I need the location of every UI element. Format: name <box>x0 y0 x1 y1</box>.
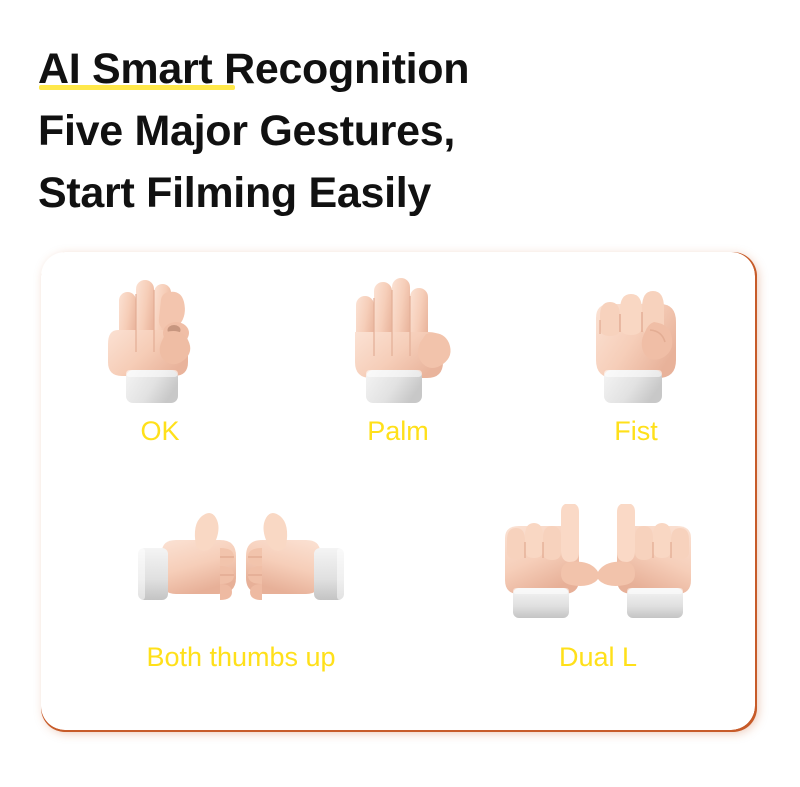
gesture-item-both-thumbs-up[interactable]: Both thumbs up Switch portrait / landsca… <box>41 504 441 703</box>
l-hand-right <box>597 504 691 618</box>
both-thumbs-up-art <box>41 504 441 628</box>
gesture-desc: Switch photo/video <box>552 453 720 477</box>
page-title: AI Smart Recognition Five Major Gestures… <box>38 38 738 224</box>
heading-highlight-underline <box>39 85 235 90</box>
both-thumbs-up-icon <box>116 504 366 628</box>
gesture-title: Fist <box>614 416 658 446</box>
gesture-title: Both thumbs up <box>146 642 335 672</box>
gesture-desc: Pause gesture control <box>501 679 696 703</box>
gesture-title: Dual L <box>559 642 637 672</box>
gesture-item-dual-l[interactable]: Dual L Pause gesture control <box>441 504 755 703</box>
thumbs-up-right <box>246 513 344 600</box>
gesture-row-top: OK Start active track <box>41 270 755 477</box>
gesture-item-ok[interactable]: OK Start active track <box>41 270 279 477</box>
gesture-desc: Start active track <box>86 453 235 477</box>
heading-line-1-wrap: AI Smart Recognition <box>38 38 738 100</box>
page-root: AI Smart Recognition Five Major Gestures… <box>0 0 800 787</box>
gesture-card: OK Start active track <box>41 252 755 730</box>
ok-hand-icon <box>106 270 214 406</box>
fist-art <box>517 270 755 406</box>
fist-icon <box>584 270 688 406</box>
heading-line-1: AI Smart Recognition <box>38 38 469 100</box>
gesture-title: OK <box>140 416 179 446</box>
l-hand-left <box>505 504 599 618</box>
ok-hand-art <box>41 270 279 406</box>
gesture-item-fist[interactable]: Fist Switch photo/video <box>517 270 755 477</box>
gesture-title: Palm <box>367 416 429 446</box>
open-palm-art <box>279 270 517 406</box>
open-palm-icon <box>342 270 454 406</box>
dual-l-hands-icon <box>487 504 709 628</box>
gesture-desc: Switch portrait / landscape <box>124 679 359 703</box>
gesture-row-bottom: Both thumbs up Switch portrait / landsca… <box>41 504 755 703</box>
gesture-item-palm[interactable]: Palm Start photo/video <box>279 270 517 477</box>
heading-line-2: Five Major Gestures, <box>38 100 738 162</box>
heading-line-3: Start Filming Easily <box>38 162 738 224</box>
thumbs-up-left <box>138 513 236 600</box>
dual-l-hands-art <box>441 504 755 628</box>
gesture-card-surface: OK Start active track <box>41 252 755 730</box>
gesture-desc: Start photo/video <box>322 453 473 477</box>
